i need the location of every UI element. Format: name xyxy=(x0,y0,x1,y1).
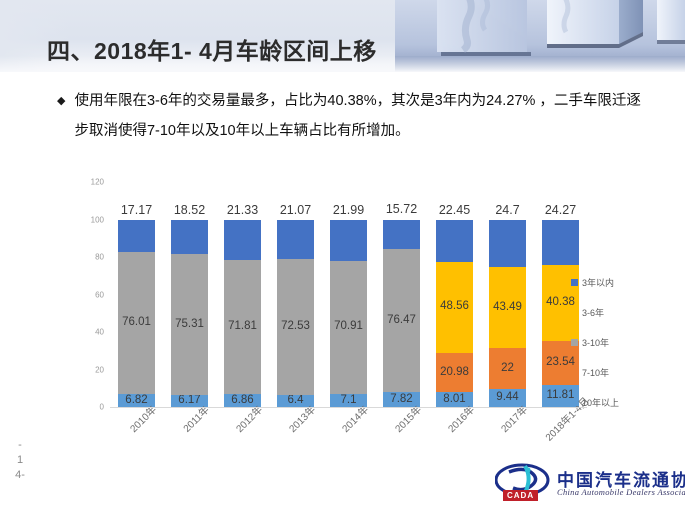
bar-segment-value: 71.81 xyxy=(228,321,257,333)
bar-column[interactable]: 6.8276.0117.172010年 xyxy=(118,182,155,407)
legend-swatch xyxy=(571,279,578,286)
page-number-char: - xyxy=(12,438,28,453)
legend-label: 10年以上 xyxy=(582,396,619,409)
logo-english-name: China Automobile Dealers Association xyxy=(557,487,685,497)
logo-badge: CADA xyxy=(503,490,538,501)
y-tick-label: 100 xyxy=(91,215,104,224)
bar-column[interactable]: 6.1775.3118.522011年 xyxy=(171,182,208,407)
y-tick-label: 0 xyxy=(100,403,104,412)
bar-segment-value: 43.49 xyxy=(493,302,522,314)
bar-column[interactable]: 6.8671.8121.332012年 xyxy=(224,182,261,407)
bar-segment[interactable]: 20.98 xyxy=(436,353,473,392)
bar-total-label: 21.33 xyxy=(227,203,258,217)
bar-segment[interactable] xyxy=(330,220,367,261)
x-axis-line xyxy=(110,407,587,408)
page-number-char: 1 xyxy=(12,453,28,468)
bar-segment[interactable]: 76.01 xyxy=(118,252,155,395)
bar-segment[interactable]: 76.47 xyxy=(383,249,420,392)
legend-item[interactable]: 3-6年 xyxy=(571,306,671,319)
chart-legend: 3年以内3-6年3-10年7-10年10年以上 xyxy=(571,276,671,426)
age-distribution-chart: 6.8276.0117.172010年6.1775.3118.522011年6.… xyxy=(82,170,587,420)
bar-column[interactable]: 9.442243.4924.72017年 xyxy=(489,182,526,407)
y-tick-label: 40 xyxy=(95,328,104,337)
bar-segment-value: 72.53 xyxy=(281,321,310,333)
bar-segment-value: 75.31 xyxy=(175,319,204,331)
bar-total-label: 24.27 xyxy=(545,203,576,217)
legend-item[interactable]: 7-10年 xyxy=(571,366,671,379)
header-banner: 四、2018年1- 4月车龄区间上移 xyxy=(0,0,685,72)
y-tick-label: 20 xyxy=(95,365,104,374)
legend-label: 3年以内 xyxy=(582,276,614,289)
bar-total-label: 21.99 xyxy=(333,203,364,217)
bar-column[interactable]: 6.472.5321.072013年 xyxy=(277,182,314,407)
bar-segment-value: 48.56 xyxy=(440,301,469,313)
diamond-bullet-icon: ◆ xyxy=(57,86,65,116)
legend-label: 3-6年 xyxy=(582,306,604,319)
bar-segment-value: 76.01 xyxy=(122,317,151,329)
bar-segment[interactable] xyxy=(383,220,420,249)
bar-segment[interactable]: 72.53 xyxy=(277,259,314,395)
bar-segment[interactable] xyxy=(277,220,314,260)
legend-swatch xyxy=(571,369,578,376)
page-title: 四、2018年1- 4月车龄区间上移 xyxy=(47,32,377,66)
cada-logo: CADA 中国汽车流通协会 China Automobile Dealers A… xyxy=(495,462,680,506)
bar-segment[interactable] xyxy=(436,220,473,262)
bar-total-label: 24.7 xyxy=(495,203,519,217)
bar-group: 6.8276.0117.172010年6.1775.3118.522011年6.… xyxy=(110,182,587,407)
bar-column[interactable]: 8.0120.9848.5622.452016年 xyxy=(436,182,473,407)
bullet-paragraph: 使用年限在3-6年的交易量最多，占比为40.38%，其次是3年内为24.27% … xyxy=(74,86,652,146)
bar-segment[interactable]: 48.56 xyxy=(436,262,473,353)
bar-segment-value: 76.47 xyxy=(387,315,416,327)
legend-item[interactable]: 3年以内 xyxy=(571,276,671,289)
bar-column[interactable]: 7.8276.4715.722015年 xyxy=(383,182,420,407)
bar-segment-value: 9.44 xyxy=(496,392,518,404)
page-number: -14- xyxy=(12,438,28,483)
bar-segment-value: 8.01 xyxy=(443,394,465,406)
y-tick-label: 60 xyxy=(95,290,104,299)
bar-segment-value: 20.98 xyxy=(440,367,469,379)
bar-segment-value: 7.1 xyxy=(341,395,357,407)
legend-swatch xyxy=(571,339,578,346)
y-tick-label: 120 xyxy=(91,178,104,187)
bar-segment-value: 70.91 xyxy=(334,321,363,333)
bullet-section: ◆ 使用年限在3-6年的交易量最多，占比为40.38%，其次是3年内为24.27… xyxy=(57,86,657,146)
y-tick-label: 80 xyxy=(95,253,104,262)
bar-segment[interactable]: 43.49 xyxy=(489,267,526,349)
legend-swatch xyxy=(571,309,578,316)
bar-segment-value: 22 xyxy=(501,363,514,375)
bar-total-label: 21.07 xyxy=(280,203,311,217)
bar-segment[interactable]: 70.91 xyxy=(330,261,367,394)
legend-item[interactable]: 3-10年 xyxy=(571,336,671,349)
page-number-char: 4- xyxy=(12,468,28,483)
bar-segment-value: 6.4 xyxy=(288,395,304,407)
bar-segment[interactable] xyxy=(171,220,208,255)
bar-segment[interactable]: 22 xyxy=(489,348,526,389)
bar-segment[interactable] xyxy=(542,220,579,266)
bullet-row: ◆ 使用年限在3-6年的交易量最多，占比为40.38%，其次是3年内为24.27… xyxy=(57,86,657,146)
bar-total-label: 17.17 xyxy=(121,203,152,217)
bar-column[interactable]: 7.170.9121.992014年 xyxy=(330,182,367,407)
bar-total-label: 18.52 xyxy=(174,203,205,217)
chart-plot-area: 6.8276.0117.172010年6.1775.3118.522011年6.… xyxy=(110,182,587,407)
bar-segment[interactable]: 71.81 xyxy=(224,260,261,395)
legend-label: 3-10年 xyxy=(582,336,609,349)
bar-segment[interactable] xyxy=(489,220,526,266)
legend-label: 7-10年 xyxy=(582,366,609,379)
bar-segment[interactable] xyxy=(118,220,155,252)
bar-segment[interactable]: 75.31 xyxy=(171,254,208,395)
bar-segment[interactable] xyxy=(224,220,261,260)
legend-swatch xyxy=(571,399,578,406)
legend-item[interactable]: 10年以上 xyxy=(571,396,671,409)
bar-total-label: 15.72 xyxy=(386,202,417,216)
bar-total-label: 22.45 xyxy=(439,203,470,217)
